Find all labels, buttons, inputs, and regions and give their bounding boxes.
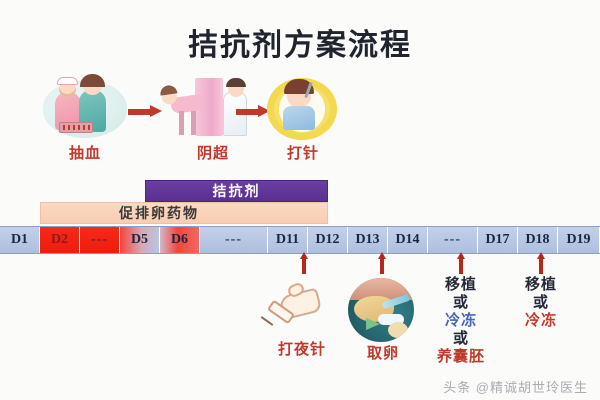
arrow-right-icon-1	[128, 106, 162, 116]
pointer-arrow-retrieval	[378, 252, 386, 274]
outcome-options-d17: 移植或冷冻或养囊胚	[429, 276, 493, 366]
outcome-line: 移植	[429, 276, 493, 294]
timeline-day-d19: D19	[558, 227, 600, 253]
timeline-day-d11: D11	[268, 227, 308, 253]
egg-retrieval-illustration	[338, 278, 424, 342]
outcome-line: 或	[429, 330, 493, 348]
timeline-day-d2: D2	[40, 227, 80, 253]
callout-trigger-label: 打夜针	[258, 338, 346, 359]
callout-retrieval-label: 取卵	[338, 342, 428, 363]
injection-illustration	[255, 78, 351, 140]
outcome-line: 或	[429, 294, 493, 312]
timeline-day-d13: D13	[348, 227, 388, 253]
timeline-day-d17: D17	[478, 227, 518, 253]
blood-draw-illustration	[37, 78, 133, 140]
timeline-day-d18: D18	[518, 227, 558, 253]
timeline-day-d12: D12	[308, 227, 348, 253]
callout-trigger: 打夜针	[258, 282, 346, 359]
syringe-illustration	[258, 282, 344, 338]
timeline-day-ellipsis: ---	[80, 227, 120, 253]
outcome-options-d19: 移植或冷冻	[509, 276, 573, 330]
outcome-line: 移植	[509, 276, 573, 294]
step-injection: 打针	[248, 78, 358, 163]
step-injection-label: 打针	[248, 142, 358, 163]
step-blood-draw-label: 抽血	[30, 142, 140, 163]
outcome-line: 或	[509, 294, 573, 312]
watermark: 头条 @精诚胡世玲医生	[443, 377, 588, 396]
timeline-day-d6: D6	[160, 227, 200, 253]
bar-stimulation: 促排卵药物	[40, 202, 328, 224]
outcome-line: 冷冻	[509, 312, 573, 330]
bar-antagonist-label: 拮抗剂	[213, 181, 261, 201]
pointer-arrow-trigger	[300, 252, 308, 274]
timeline-day-ellipsis: ---	[200, 227, 268, 253]
callout-retrieval: 取卵	[338, 278, 428, 363]
poster-canvas: 拮抗剂方案流程 抽血 阴超	[0, 0, 600, 400]
bar-stimulation-label: 促排卵药物	[119, 203, 199, 223]
timeline-day-d5: D5	[120, 227, 160, 253]
timeline-day-ellipsis: ---	[428, 227, 478, 253]
timeline-day-d14: D14	[388, 227, 428, 253]
page-title: 拮抗剂方案流程	[0, 20, 600, 64]
outcome-line: 冷冻	[429, 312, 493, 330]
timeline-day-d1: D1	[0, 227, 40, 253]
pointer-arrow-d17	[457, 252, 465, 274]
pointer-arrow-d19	[537, 252, 545, 274]
outcome-line: 养囊胚	[429, 348, 493, 366]
process-steps: 抽血 阴超 打针	[0, 78, 600, 170]
bar-antagonist: 拮抗剂	[145, 180, 328, 202]
step-blood-draw: 抽血	[30, 78, 140, 163]
timeline-day-row: D1D2---D5D6---D11D12D13D14---D17D18D19	[0, 226, 600, 254]
